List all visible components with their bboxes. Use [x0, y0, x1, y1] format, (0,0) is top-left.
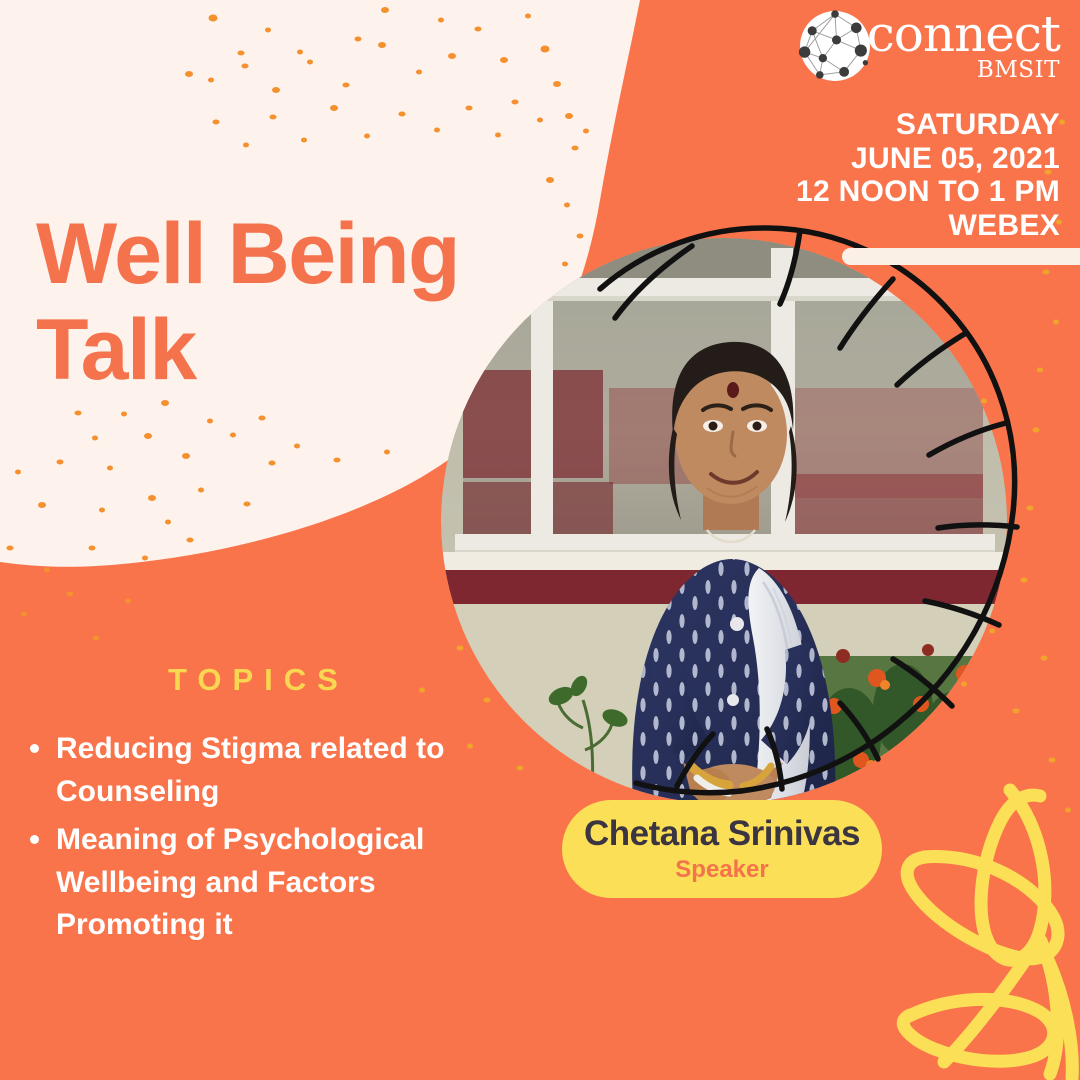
topic-text: Reducing Stigma related to Counseling — [56, 732, 444, 808]
speaker-badge: Chetana Srinivas Speaker — [562, 800, 882, 898]
connect-bmsit-logo: connect BMSIT — [797, 8, 1060, 84]
logo-wordmark: connect — [867, 11, 1060, 59]
cream-divider-bar — [842, 248, 1080, 265]
event-time: 12 NOON TO 1 PM — [796, 175, 1060, 209]
logo-subtitle: BMSIT — [977, 57, 1060, 83]
event-details: SATURDAY JUNE 05, 2021 12 NOON TO 1 PM W… — [796, 108, 1060, 242]
topic-text: Meaning of Psychological Wellbeing and F… — [56, 823, 424, 941]
connect-network-logo-icon — [797, 8, 873, 84]
page-title: Well Being Talk — [36, 206, 516, 399]
title-line-1: Well Being — [36, 206, 516, 302]
topics-list: Reducing Stigma related to Counseling Me… — [14, 728, 526, 953]
bullet-icon — [30, 835, 39, 844]
event-platform: WEBEX — [796, 209, 1060, 243]
title-line-2: Talk — [36, 302, 516, 398]
speaker-role: Speaker — [675, 858, 768, 882]
list-item: Meaning of Psychological Wellbeing and F… — [14, 819, 526, 947]
event-poster: connect BMSIT SATURDAY JUNE 05, 2021 12 … — [0, 0, 1080, 1080]
topics-heading: TOPICS — [168, 662, 349, 698]
list-item: Reducing Stigma related to Counseling — [14, 728, 526, 813]
event-day: SATURDAY — [796, 108, 1060, 142]
speaker-name: Chetana Srinivas — [584, 816, 860, 851]
event-date: JUNE 05, 2021 — [796, 142, 1060, 176]
bullet-icon — [30, 744, 39, 753]
